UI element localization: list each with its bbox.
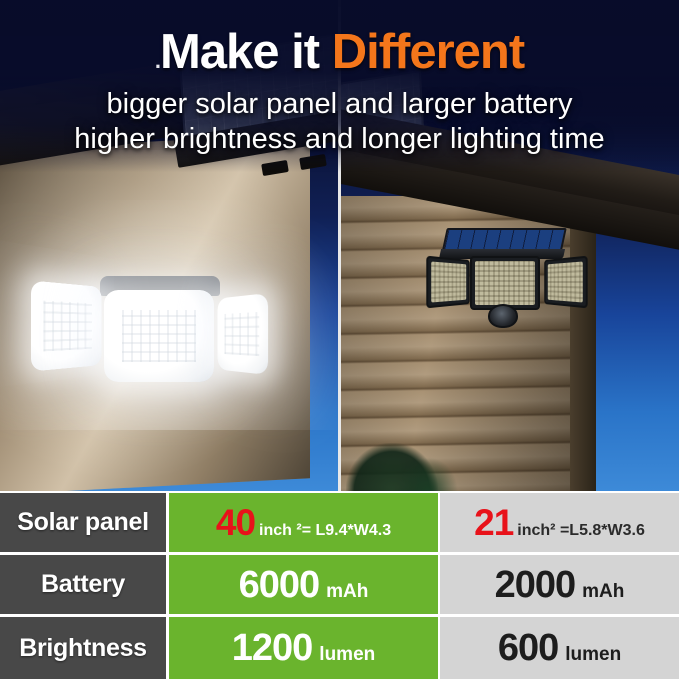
led-grid-icon [225,312,259,357]
theirs-cell-brightness: 600 lumen [440,617,679,679]
theirs-unit-brightness: lumen [565,645,621,664]
row-label-battery: Battery [0,555,166,614]
theirs-value-battery: 2000 [495,566,576,604]
ours-value-brightness: 1200 [232,629,313,667]
comparison-table: Solar panel 40 inch ²= L9.4*W4.3 21 inch… [0,491,679,679]
ours-unit-solar-panel: inch ²= L9.4*W4.3 [259,523,391,539]
theirs-value-brightness: 600 [498,629,558,667]
tree-silhouette [398,457,458,491]
small-solar-light-fixture [422,228,594,338]
theirs-unit-solar-panel: inch² =L5.8*W3.6 [517,523,645,539]
lamp-head-center [104,290,214,382]
led-grid-icon [475,261,535,305]
row-label-solar-panel: Solar panel [0,493,166,552]
led-grid-icon [548,261,583,302]
table-row-solar-panel: Solar panel 40 inch ²= L9.4*W4.3 21 inch… [0,493,679,552]
ours-value-solar-panel: 40 [216,504,255,541]
theirs-cell-solar-panel: 21 inch² =L5.8*W3.6 [440,493,679,552]
solar-light-fixture-left [30,270,290,400]
led-grid-icon [122,310,197,362]
table-row-brightness: Brightness 1200 lumen 600 lumen [0,617,679,679]
lamp-head-left [31,280,102,371]
ours-unit-brightness: lumen [319,645,375,664]
ours-cell-battery: 6000 mAh [169,555,438,614]
ours-cell-solar-panel: 40 inch ²= L9.4*W4.3 [169,493,438,552]
led-grid-icon [431,261,466,302]
lamp-head-right [218,293,268,375]
product-comparison-infographic: .Make it Different bigger solar panel an… [0,0,679,679]
theirs-unit-battery: mAh [582,582,624,601]
title-part-white: Make it [160,25,332,79]
small-lamp-head-left [426,256,469,309]
title-part-orange: Different [332,25,524,79]
small-lamp-head-right [544,256,587,309]
ours-value-battery: 6000 [239,566,320,604]
table-row-battery: Battery 6000 mAh 2000 mAh [0,555,679,614]
subtitle-line-1: bigger solar panel and larger battery [0,89,679,120]
ours-unit-battery: mAh [326,582,368,601]
row-label-brightness: Brightness [0,617,166,679]
small-lamp-head-center [470,256,540,310]
theirs-cell-battery: 2000 mAh [440,555,679,614]
photo-area: .Make it Different bigger solar panel an… [0,0,679,491]
ours-cell-brightness: 1200 lumen [169,617,438,679]
subtitle-line-2: higher brightness and longer lighting ti… [0,124,679,155]
motion-sensor-icon [488,304,518,328]
theirs-value-solar-panel: 21 [474,504,513,541]
page-title: .Make it Different [0,28,679,77]
led-grid-icon [44,301,92,351]
